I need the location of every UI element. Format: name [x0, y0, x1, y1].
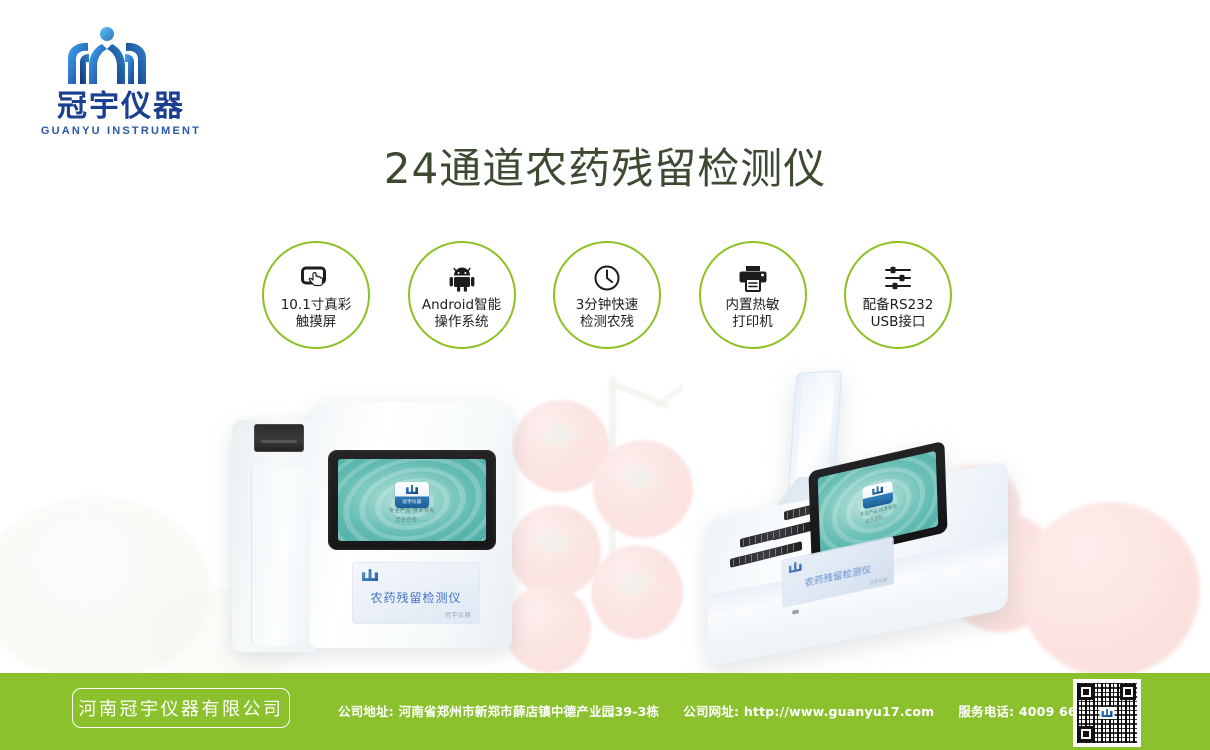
tomato [513, 400, 609, 492]
feature-fast-detection[interactable]: 3分钟快速 检测农残 [553, 241, 661, 349]
footer-address: 公司地址: 河南省郑州市新郑市薛店镇中德产业园39-3栋 [338, 701, 659, 720]
analyzer-screen[interactable]: 冠宇仪器 专业产品 技术领先 正在自检…… [338, 459, 486, 541]
footer-website[interactable]: 公司网址: http://www.guanyu17.com [683, 701, 934, 720]
analyzer-screen[interactable]: 专业产品 技术领先 正在自检…… [818, 451, 939, 553]
clock-icon [593, 263, 621, 293]
tomato-calyx [607, 565, 665, 602]
company-name-badge: 河南冠宇仪器有限公司 [72, 688, 290, 728]
feature-thermal-printer[interactable]: 内置热敏 打印机 [699, 241, 807, 349]
feature-label: 10.1寸真彩 触摸屏 [281, 297, 352, 331]
android-robot-icon [449, 263, 475, 293]
guanyu-emblem-icon [362, 569, 378, 581]
app-logo-badge: 冠宇仪器 [395, 482, 429, 508]
feature-ports[interactable]: 配备RS232 USB接口 [844, 241, 952, 349]
product-name-subtext: 冠宇仪器 [445, 610, 471, 619]
analyzer-body: 冠宇仪器 专业产品 技术领先 正在自检…… 农药残留检测仪 冠宇仪器 [310, 402, 512, 648]
angled-view-analyzer-open-lid: 专业产品 技术领先 正在自检…… 农药残留检测仪 冠宇仪器 [700, 370, 1030, 655]
qr-code-pattern [1077, 683, 1137, 743]
brand-logo: 冠宇仪器 GUANYU INSTRUMENT [36, 26, 206, 141]
feature-label: 内置热敏 打印机 [726, 297, 780, 331]
product-name-subtext: 冠宇仪器 [869, 577, 887, 587]
screen-status-text: 专业产品 技术领先 正在自检…… [338, 507, 486, 526]
qr-center-logo [1100, 707, 1115, 719]
sample-door [251, 468, 314, 646]
vine-stem [609, 376, 616, 626]
product-name-text: 农药残留检测仪 [353, 589, 479, 606]
vine-branch [654, 385, 685, 409]
printer-slot [254, 424, 304, 452]
page-title: 24通道农药残留检测仪 [0, 135, 1210, 196]
address-label: 公司地址: [338, 704, 394, 719]
tomato-calyx [531, 418, 588, 451]
tomato [591, 545, 683, 639]
qr-code-icon[interactable] [1073, 679, 1141, 747]
guanyu-emblem-icon [1102, 709, 1113, 717]
website-value[interactable]: http://www.guanyu17.com [744, 704, 935, 719]
guanyu-emblem-icon [64, 26, 150, 88]
tomato [593, 440, 693, 538]
address-value: 河南省郑州市新郑市薛店镇中德产业园39-3栋 [399, 704, 660, 719]
poster-canvas: 冠宇仪器 GUANYU INSTRUMENT 24通道农药残留检测仪 10.1寸… [0, 0, 1210, 750]
front-view-analyzer: 冠宇仪器 专业产品 技术领先 正在自检…… 农药残留检测仪 冠宇仪器 [232, 402, 512, 652]
feature-label: 3分钟快速 检测农残 [576, 297, 639, 331]
guanyu-emblem-icon [789, 561, 802, 574]
qr-finder-pattern [1078, 726, 1094, 742]
feature-label: 配备RS232 USB接口 [863, 297, 934, 331]
tomato-calyx [524, 525, 580, 557]
feature-highlights: 10.1寸真彩 触摸屏 Android智能 操作系统 [262, 240, 952, 350]
phone-label: 服务电话: [958, 704, 1014, 719]
tomato [505, 585, 591, 673]
tomato-calyx [611, 462, 669, 497]
feature-android-os[interactable]: Android智能 操作系统 [408, 241, 516, 349]
touchscreen-hand-icon [301, 263, 331, 293]
tomato [509, 505, 601, 597]
qr-finder-pattern [1078, 684, 1094, 700]
printer-icon [738, 263, 768, 293]
cabbage-background-image [0, 497, 210, 677]
app-logo-text: 冠宇仪器 [402, 500, 421, 505]
screen-bezel: 冠宇仪器 专业产品 技术领先 正在自检…… [328, 450, 496, 550]
footer-bar: 河南冠宇仪器有限公司 公司地址: 河南省郑州市新郑市薛店镇中德产业园39-3栋 … [0, 673, 1210, 750]
tomato [1020, 502, 1200, 677]
footer-contact-info: 公司地址: 河南省郑州市新郑市薛店镇中德产业园39-3栋 公司网址: http:… [338, 701, 1117, 720]
guanyu-emblem-icon [872, 485, 883, 495]
brand-name-cn: 冠宇仪器 [36, 92, 206, 122]
vine-branch [610, 380, 670, 409]
feature-label: Android智能 操作系统 [422, 297, 501, 331]
website-label: 公司网址: [683, 704, 739, 719]
qr-finder-pattern [1120, 684, 1136, 700]
guanyu-emblem-icon [406, 485, 418, 494]
product-name-panel: 农药残留检测仪 冠宇仪器 [352, 562, 480, 624]
feature-touchscreen[interactable]: 10.1寸真彩 触摸屏 [262, 241, 370, 349]
sliders-settings-icon [884, 263, 912, 293]
